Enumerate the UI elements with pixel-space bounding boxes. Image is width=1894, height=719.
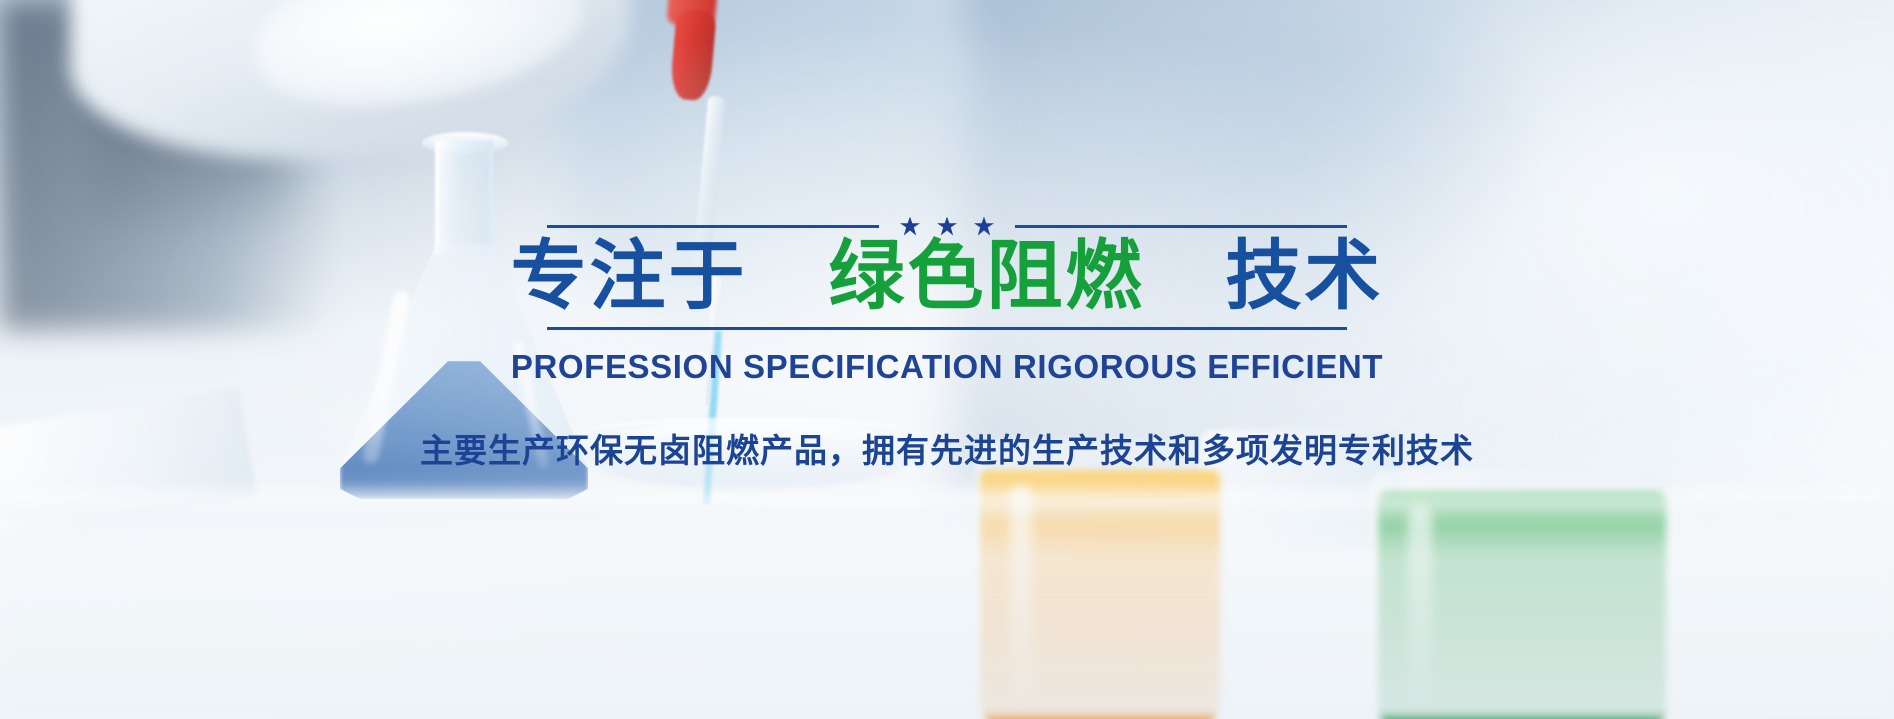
banner-subtitle-english: PROFESSION SPECIFICATION RIGOROUS EFFICI… bbox=[511, 348, 1383, 386]
headline-part-2: 绿色阻燃 bbox=[829, 231, 1145, 320]
banner-headline: 专注于 绿色阻燃 技术 bbox=[511, 238, 1384, 314]
divider-line-left bbox=[547, 225, 879, 228]
hero-banner: 专注于 绿色阻燃 技术 PROFESSION SPECIFICATION RIG… bbox=[0, 0, 1894, 719]
headline-part-3: 技术 bbox=[1225, 231, 1383, 320]
headline-part-1: 专注于 bbox=[511, 231, 748, 320]
banner-tagline-chinese: 主要生产环保无卤阻燃产品，拥有先进的生产技术和多项发明专利技术 bbox=[420, 424, 1474, 472]
divider-line-right bbox=[1015, 225, 1347, 228]
banner-content: 专注于 绿色阻燃 技术 PROFESSION SPECIFICATION RIG… bbox=[0, 0, 1894, 719]
headline-underline bbox=[547, 327, 1347, 330]
